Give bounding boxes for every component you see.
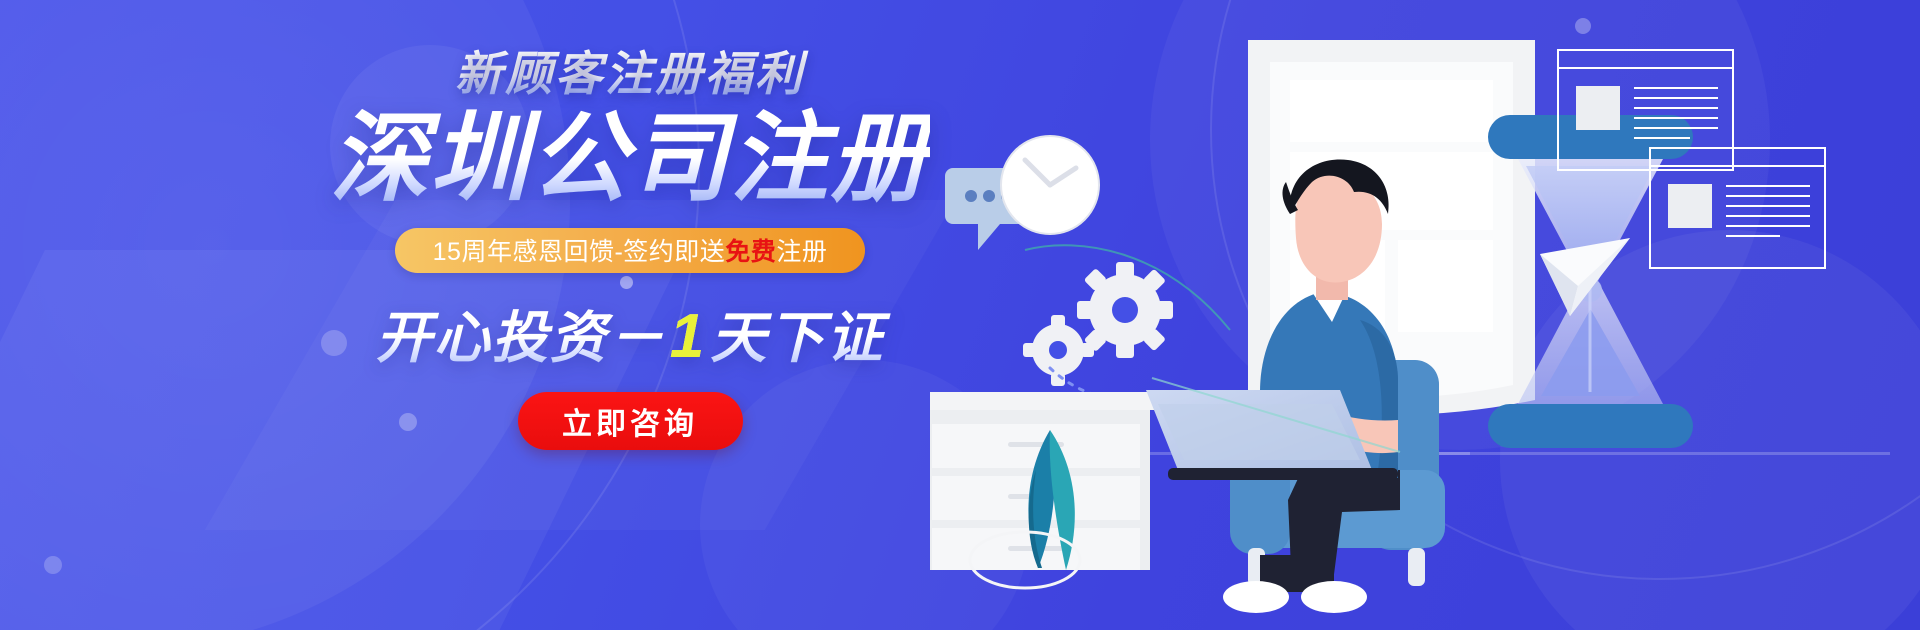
document-card-front-icon xyxy=(1650,148,1825,268)
promo-pill-highlight: 免费 xyxy=(725,232,776,268)
promo-pill-suffix: 注册 xyxy=(776,232,827,268)
consult-now-button[interactable]: 立即咨询 xyxy=(518,392,743,450)
page-title: 深圳公司注册 xyxy=(330,106,930,212)
wall-clock-icon xyxy=(1001,136,1099,234)
promo-pill-prefix: 15周年感恩回馈-签约即送 xyxy=(433,232,726,268)
promo-pill: 15周年感恩回馈-签约即送 免费 注册 xyxy=(395,228,865,273)
tagline-prefix: 开心投资－ xyxy=(376,306,666,369)
copy-block: 新顾客注册福利 深圳公司注册 15周年感恩回馈-签约即送 免费 注册 开心投资－… xyxy=(330,48,930,450)
illustration xyxy=(930,0,1920,630)
promo-banner: 新顾客注册福利 深圳公司注册 15周年感恩回馈-签约即送 免费 注册 开心投资－… xyxy=(0,0,1920,630)
floor-line-right xyxy=(1370,452,1890,455)
tagline-suffix: 天下证 xyxy=(710,306,884,369)
tagline-number: 1 xyxy=(666,302,710,371)
tagline: 开心投资－1天下证 xyxy=(330,293,930,374)
background-dot-6 xyxy=(44,556,62,574)
kicker-text: 新顾客注册福利 xyxy=(330,48,930,100)
